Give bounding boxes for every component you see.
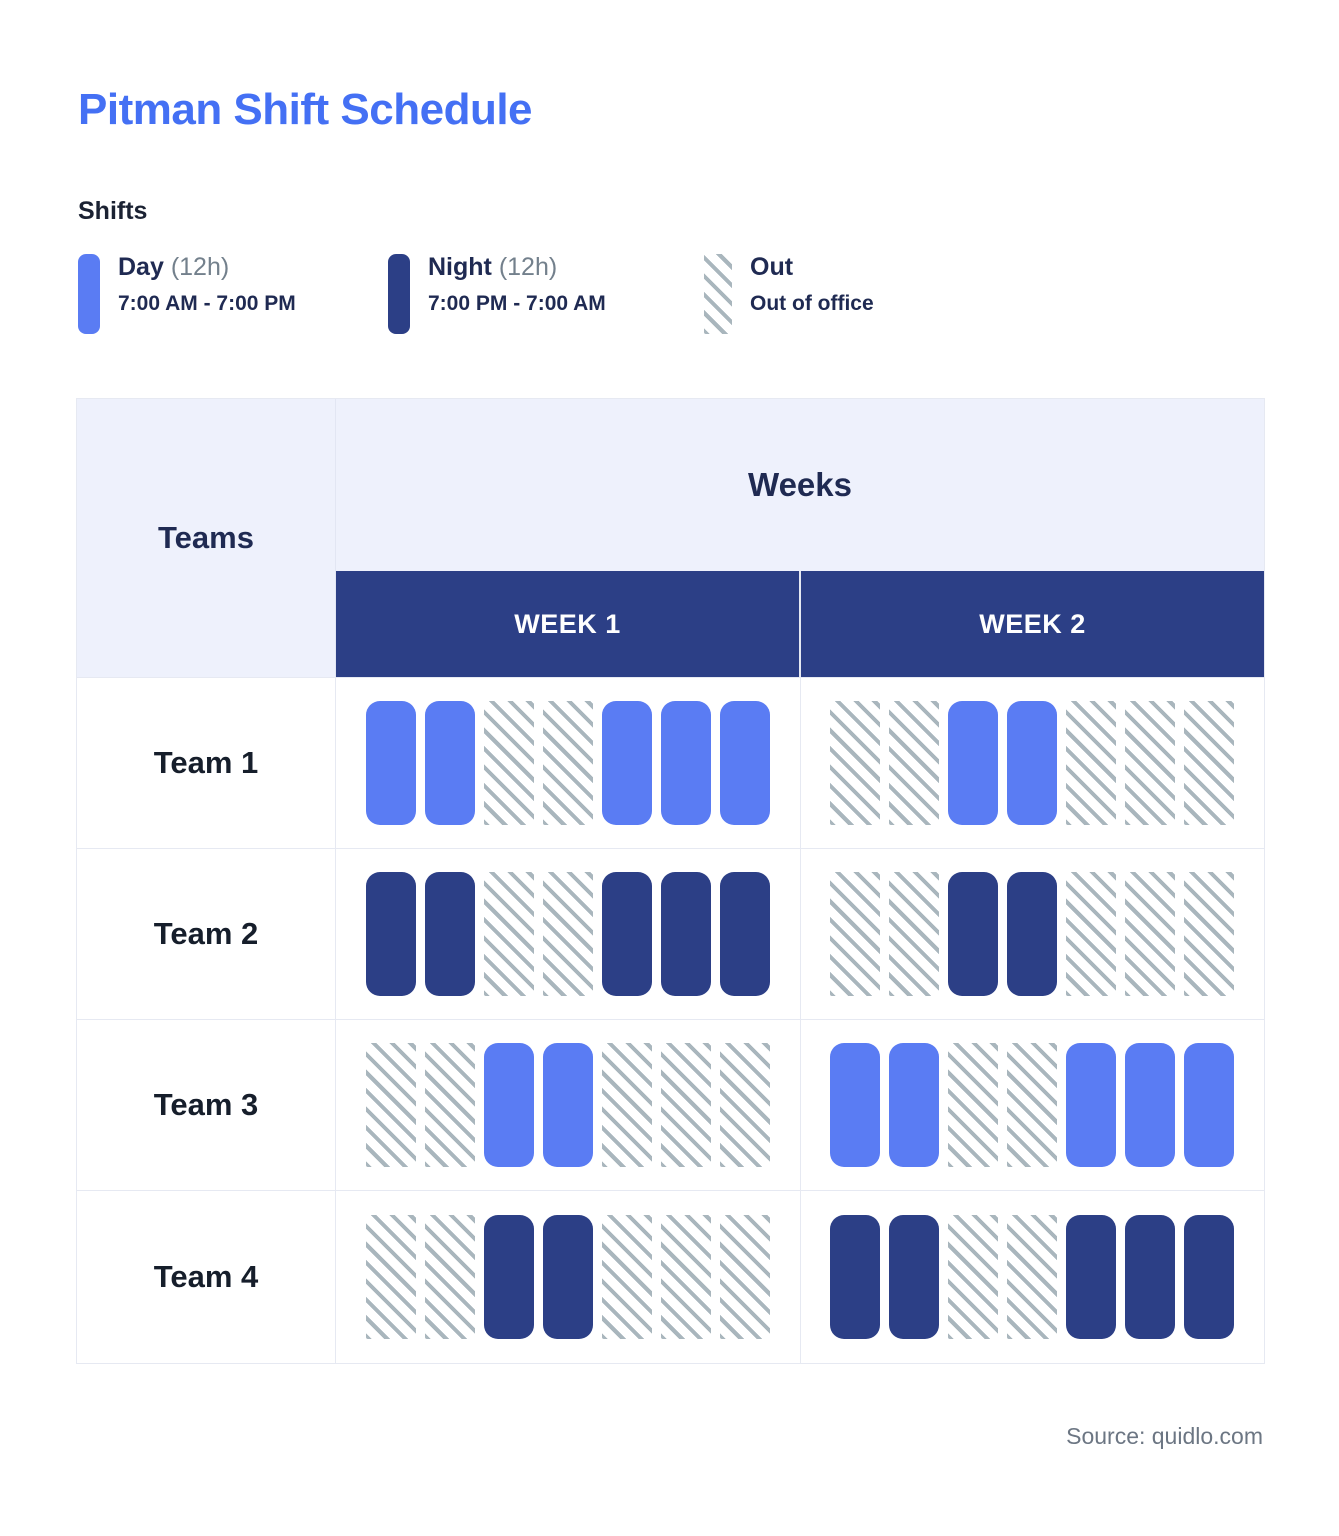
out-shift-bar (830, 701, 880, 825)
weeks-group-header-label: Weeks (748, 466, 852, 504)
week-columns-header-row: WEEK 1 WEEK 2 (336, 571, 1264, 677)
table-row: Team 4 (77, 1190, 1264, 1363)
out-shift-bar (1125, 872, 1175, 996)
legend-out-time: Out of office (750, 291, 874, 317)
week-1-cell (336, 849, 800, 1019)
legend-text-night: Night (12h) 7:00 PM - 7:00 AM (428, 252, 606, 318)
legend-heading: Shifts (78, 197, 147, 226)
shift-bar-group (815, 1215, 1251, 1339)
night-shift-bar (661, 872, 711, 996)
out-shift-bar (366, 1215, 416, 1339)
day-shift-bar (543, 1043, 593, 1167)
legend-item-day: Day (12h) 7:00 AM - 7:00 PM (78, 252, 388, 334)
week-2-cell (800, 1020, 1265, 1190)
source-attribution: Source: quidlo.com (1066, 1423, 1263, 1450)
week-2-column-header: WEEK 2 (799, 571, 1264, 677)
table-row: Team 1 (77, 677, 1264, 848)
out-shift-bar (1125, 701, 1175, 825)
day-shift-bar (720, 701, 770, 825)
out-shift-bar (948, 1043, 998, 1167)
legend-day-title: Day (12h) (118, 252, 296, 283)
out-shift-bar (889, 872, 939, 996)
out-shift-bar (602, 1215, 652, 1339)
legend-day-name: Day (118, 253, 164, 281)
team-name-cell: Team 4 (77, 1191, 336, 1363)
night-shift-bar (948, 872, 998, 996)
legend-item-out: Out Out of office (704, 252, 1004, 334)
shift-bar-group (815, 872, 1251, 996)
weeks-group-header: Weeks (336, 399, 1264, 571)
team-name-cell: Team 3 (77, 1020, 336, 1190)
out-shift-bar (720, 1043, 770, 1167)
out-shift-bar (484, 872, 534, 996)
night-shift-bar (1125, 1215, 1175, 1339)
shift-bar-group (350, 1215, 786, 1339)
night-shift-swatch-icon (388, 254, 410, 334)
shift-bar-group (350, 872, 786, 996)
shift-legend: Day (12h) 7:00 AM - 7:00 PM Night (12h) … (78, 252, 1004, 334)
day-shift-bar (425, 701, 475, 825)
out-shift-bar (830, 872, 880, 996)
table-row: Team 3 (77, 1019, 1264, 1190)
out-shift-bar (366, 1043, 416, 1167)
night-shift-bar (1066, 1215, 1116, 1339)
shift-bar-group (815, 1043, 1251, 1167)
team-name-label: Team 4 (154, 1259, 259, 1295)
legend-night-name: Night (428, 253, 492, 281)
night-shift-bar (1007, 872, 1057, 996)
week-2-cell (800, 849, 1265, 1019)
out-shift-bar (484, 701, 534, 825)
legend-night-title: Night (12h) (428, 252, 606, 283)
legend-out-name: Out (750, 253, 793, 281)
day-shift-bar (1066, 1043, 1116, 1167)
day-shift-bar (830, 1043, 880, 1167)
out-shift-bar (425, 1215, 475, 1339)
legend-out-title: Out (750, 252, 874, 283)
day-shift-bar (484, 1043, 534, 1167)
table-row: Team 2 (77, 848, 1264, 1019)
night-shift-bar (425, 872, 475, 996)
team-name-label: Team 1 (154, 745, 259, 781)
night-shift-bar (830, 1215, 880, 1339)
team-name-label: Team 3 (154, 1087, 259, 1123)
night-shift-bar (484, 1215, 534, 1339)
page-title: Pitman Shift Schedule (78, 86, 532, 134)
week-1-cell (336, 1020, 800, 1190)
legend-day-time: 7:00 AM - 7:00 PM (118, 291, 296, 317)
legend-item-night: Night (12h) 7:00 PM - 7:00 AM (388, 252, 704, 334)
weeks-cells (336, 1191, 1264, 1363)
day-shift-bar (1125, 1043, 1175, 1167)
day-shift-bar (1184, 1043, 1234, 1167)
out-of-office-swatch-icon (704, 254, 732, 334)
team-name-cell: Team 1 (77, 678, 336, 848)
night-shift-bar (602, 872, 652, 996)
out-shift-bar (661, 1043, 711, 1167)
shift-bar-group (815, 701, 1251, 825)
out-shift-bar (543, 701, 593, 825)
out-shift-bar (602, 1043, 652, 1167)
night-shift-bar (1184, 1215, 1234, 1339)
week-2-cell (800, 678, 1265, 848)
week-2-cell (800, 1191, 1265, 1363)
day-shift-bar (602, 701, 652, 825)
week-1-cell (336, 678, 800, 848)
table-header: Teams Weeks WEEK 1 WEEK 2 (77, 399, 1264, 677)
out-shift-bar (425, 1043, 475, 1167)
team-name-label: Team 2 (154, 916, 259, 952)
out-shift-bar (1066, 701, 1116, 825)
day-shift-bar (948, 701, 998, 825)
infographic-page: Pitman Shift Schedule Shifts Day (12h) 7… (0, 0, 1339, 1536)
night-shift-bar (366, 872, 416, 996)
day-shift-swatch-icon (78, 254, 100, 334)
out-shift-bar (948, 1215, 998, 1339)
day-shift-bar (1007, 701, 1057, 825)
out-shift-bar (543, 872, 593, 996)
legend-night-duration: (12h) (499, 253, 557, 281)
legend-text-day: Day (12h) 7:00 AM - 7:00 PM (118, 252, 296, 318)
weeks-cells (336, 1020, 1264, 1190)
shift-bar-group (350, 701, 786, 825)
out-shift-bar (661, 1215, 711, 1339)
teams-column-header: Teams (77, 399, 336, 677)
out-shift-bar (1184, 701, 1234, 825)
day-shift-bar (661, 701, 711, 825)
out-shift-bar (720, 1215, 770, 1339)
out-shift-bar (1007, 1215, 1057, 1339)
night-shift-bar (720, 872, 770, 996)
out-shift-bar (889, 701, 939, 825)
week-1-cell (336, 1191, 800, 1363)
shift-schedule-table: Teams Weeks WEEK 1 WEEK 2 Team 1Team 2Te… (76, 398, 1265, 1364)
out-shift-bar (1184, 872, 1234, 996)
weeks-header-group: Weeks WEEK 1 WEEK 2 (336, 399, 1264, 677)
night-shift-bar (543, 1215, 593, 1339)
out-shift-bar (1066, 872, 1116, 996)
weeks-cells (336, 849, 1264, 1019)
legend-text-out: Out Out of office (750, 252, 874, 318)
day-shift-bar (366, 701, 416, 825)
week-1-column-header: WEEK 1 (336, 571, 799, 677)
out-shift-bar (1007, 1043, 1057, 1167)
legend-day-duration: (12h) (171, 253, 229, 281)
night-shift-bar (889, 1215, 939, 1339)
team-name-cell: Team 2 (77, 849, 336, 1019)
shift-bar-group (350, 1043, 786, 1167)
legend-night-time: 7:00 PM - 7:00 AM (428, 291, 606, 317)
teams-column-header-label: Teams (158, 520, 254, 556)
weeks-cells (336, 678, 1264, 848)
day-shift-bar (889, 1043, 939, 1167)
table-body: Team 1Team 2Team 3Team 4 (77, 677, 1264, 1363)
